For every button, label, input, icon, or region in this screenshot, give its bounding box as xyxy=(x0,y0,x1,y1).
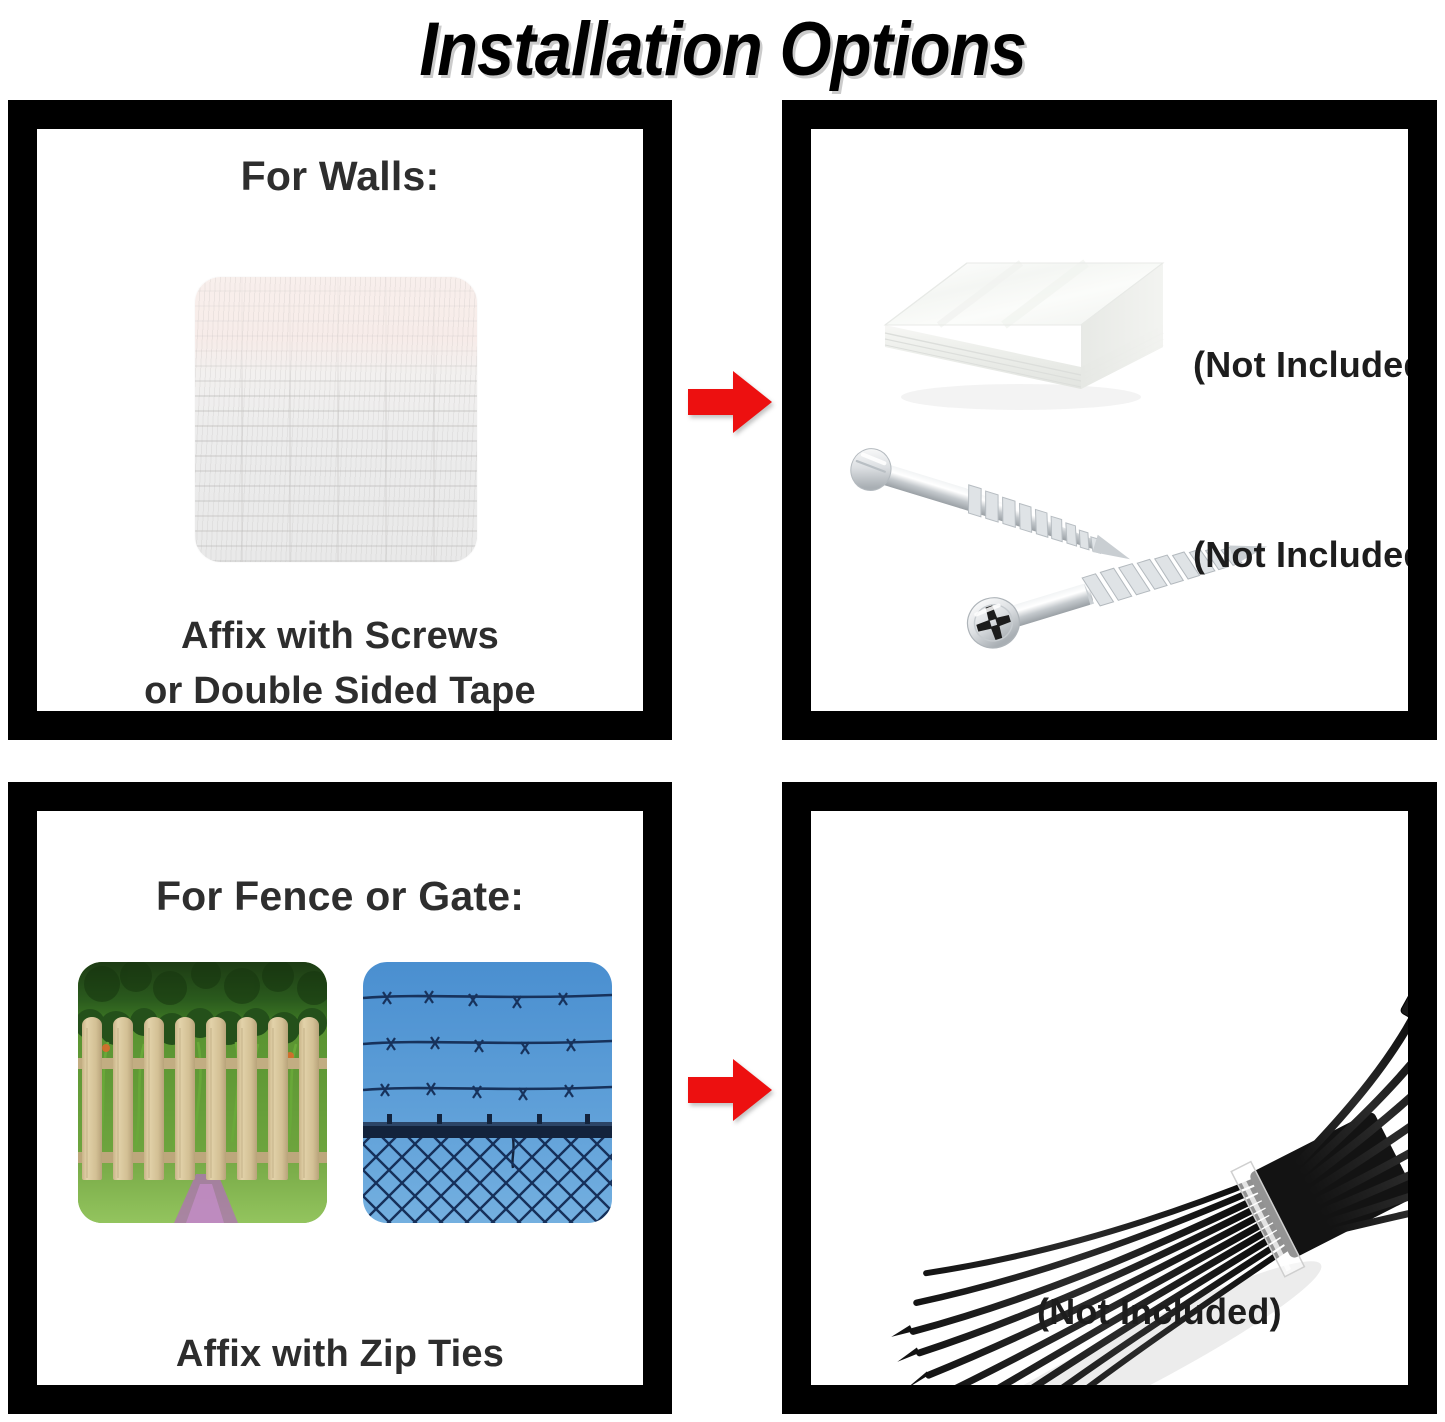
for-walls-heading: For Walls: xyxy=(37,153,643,200)
double-sided-tape-stack-icon xyxy=(871,229,1171,419)
page-title: Installation Options xyxy=(419,6,1026,93)
black-zip-tie-bundle-icon xyxy=(866,1051,1396,1385)
panel-fence-fasteners-content: (Not Included) xyxy=(811,811,1408,1385)
panel-for-walls-content: For Walls: Affix with Screws or Double S… xyxy=(37,129,643,711)
for-fence-heading: For Fence or Gate: xyxy=(37,873,643,920)
for-walls-caption-line-1: Affix with Screws xyxy=(37,615,643,658)
arrow-right-icon xyxy=(686,368,774,436)
chain-link-barbed-wire-fence-photo-icon xyxy=(363,962,612,1223)
page-header: Installation Options xyxy=(0,0,1445,98)
panel-for-walls: For Walls: Affix with Screws or Double S… xyxy=(8,100,672,740)
arrow-right-icon xyxy=(686,1056,774,1124)
for-walls-caption-line-2: or Double Sided Tape xyxy=(37,670,643,711)
wooden-picket-fence-photo-icon xyxy=(78,962,327,1223)
panel-wall-fasteners: (Not Included) xyxy=(782,100,1437,740)
panel-for-fence-content: For Fence or Gate: xyxy=(37,811,643,1385)
screws-not-included-label: (Not Included) xyxy=(1193,534,1408,576)
zipties-not-included-label: (Not Included) xyxy=(1037,1291,1282,1333)
arrow-fence-to-fasteners xyxy=(686,1056,774,1124)
panel-fence-fasteners: (Not Included) xyxy=(782,782,1437,1414)
tape-not-included-label: (Not Included) xyxy=(1193,344,1408,386)
arrow-walls-to-fasteners xyxy=(686,368,774,436)
white-brick-wall-swatch-icon xyxy=(195,277,477,562)
panel-wall-fasteners-content: (Not Included) xyxy=(811,129,1408,711)
panel-for-fence-or-gate: For Fence or Gate: xyxy=(8,782,672,1414)
for-fence-caption-line-1: Affix with Zip Ties xyxy=(37,1333,643,1376)
wall-grain-texture xyxy=(195,277,477,562)
